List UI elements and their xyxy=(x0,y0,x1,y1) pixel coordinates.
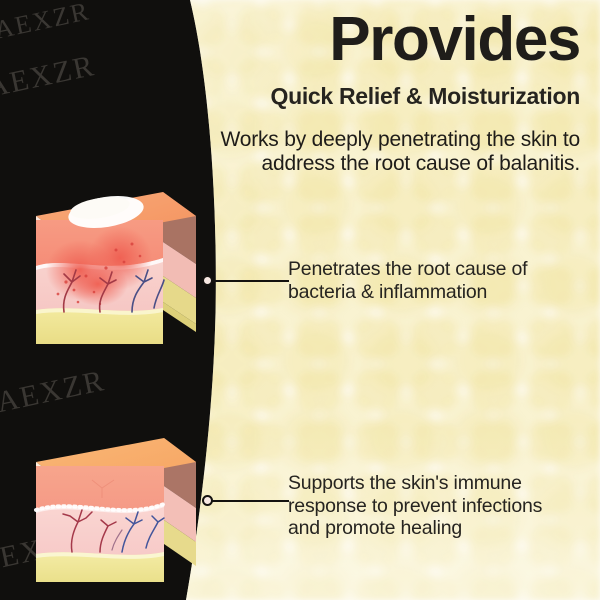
callout-line xyxy=(211,500,289,502)
page-title: Provides xyxy=(160,8,580,71)
callout-line xyxy=(211,280,289,282)
page-subtitle: Quick Relief & Moisturization xyxy=(160,84,580,109)
callout-immune: Supports the skin's immune response to p… xyxy=(288,472,568,540)
watermark-brand: AEXZR xyxy=(0,0,93,46)
inflamed-skin-block xyxy=(28,172,203,372)
watermark-brand: AEXZR xyxy=(0,364,108,420)
callout-penetrates: Penetrates the root cause of bacteria & … xyxy=(288,258,558,303)
poster: AEXZR AEXZR AEXZR AEXZR xyxy=(0,0,600,600)
intro-paragraph: Works by deeply penetrating the skin to … xyxy=(210,128,580,177)
healthy-skin-block xyxy=(30,424,202,592)
watermark-brand: AEXZR xyxy=(0,49,98,105)
